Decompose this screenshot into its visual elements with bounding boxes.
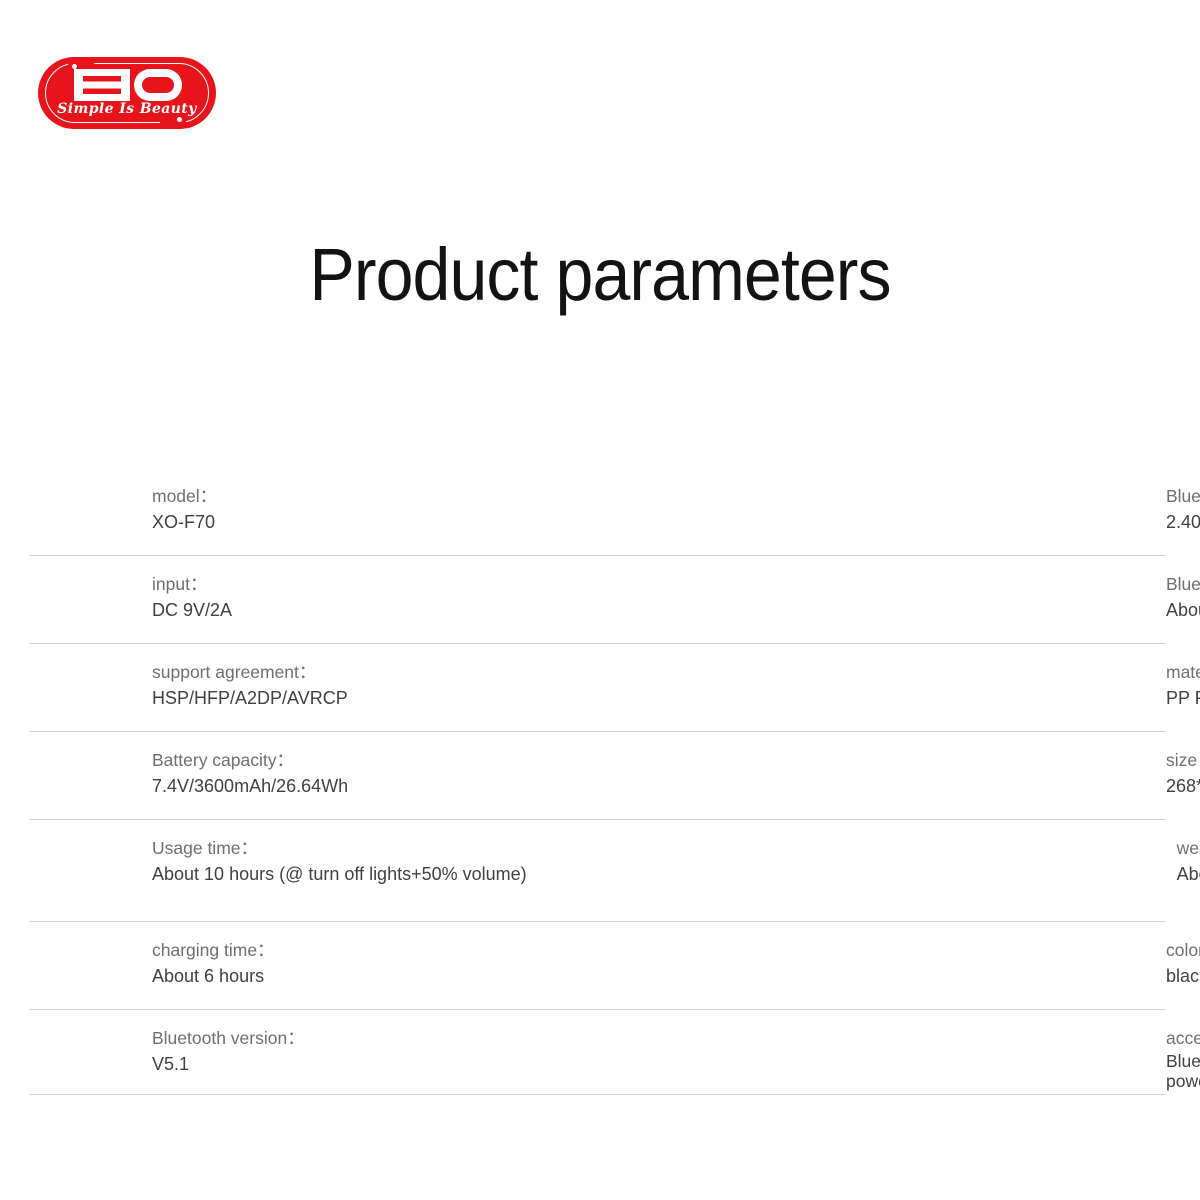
spec-label: charging time： <box>152 938 516 963</box>
table-row: charging time： About 6 hours color： blac… <box>30 922 1166 1010</box>
spec-label: support agreement： <box>152 660 516 685</box>
spec-cell-material: material： PP PLASTIC <box>516 644 1166 731</box>
spec-label: model： <box>152 484 516 509</box>
spec-cell-model: model： XO-F70 <box>30 468 516 555</box>
spec-cell-size: size： 268*298*612mm <box>516 732 1166 819</box>
spec-cell-support-agreement: support agreement： HSP/HFP/A2DP/AVRCP <box>30 644 516 731</box>
spec-cell-battery-capacity: Battery capacity： 7.4V/3600mAh/26.64Wh <box>30 732 516 819</box>
logo-tagline: Simple Is Beauty <box>38 101 216 117</box>
xo-logo: Simple Is Beauty <box>38 57 216 129</box>
logo-dot-bottom-right <box>177 117 182 122</box>
page-title: Product parameters <box>48 232 1152 318</box>
table-row: Battery capacity： 7.4V/3600mAh/26.64Wh s… <box>30 732 1166 820</box>
spec-cell-weight: weight： About5.8Kg <box>527 820 1177 921</box>
table-row: model： XO-F70 Bluetooth frequency： 2.402… <box>30 468 1166 556</box>
table-row: input： DC 9V/2A Bluetooth distance： Abou… <box>30 556 1166 644</box>
spec-label: Bluetooth version： <box>152 1026 516 1051</box>
spec-value: DC 9V/2A <box>152 597 516 624</box>
spec-value: Bluetooth wireless microphone * 1, instr… <box>1166 1051 1200 1091</box>
table-row: Bluetooth version： V5.1 accessories： Blu… <box>30 1010 1166 1095</box>
spec-value: V5.1 <box>152 1051 516 1078</box>
spec-cell-bluetooth-version: Bluetooth version： V5.1 <box>30 1010 516 1094</box>
spec-value: About 6 hours <box>152 963 516 990</box>
spec-cell-bluetooth-frequency: Bluetooth frequency： 2.402GHz-2.480GHz <box>516 468 1166 555</box>
spec-cell-color: color： black <box>516 922 1166 1009</box>
spec-label: Battery capacity： <box>152 748 516 773</box>
table-row: support agreement： HSP/HFP/A2DP/AVRCP ma… <box>30 644 1166 732</box>
spec-cell-usage-time: Usage time： About 10 hours (@ turn off l… <box>30 820 527 921</box>
xo-wordmark-icon <box>72 68 184 102</box>
spec-value: 7.4V/3600mAh/26.64Wh <box>152 773 516 800</box>
spec-cell-bluetooth-distance: Bluetooth distance： About 10 meters <box>516 556 1166 643</box>
spec-cell-charging-time: charging time： About 6 hours <box>30 922 516 1009</box>
table-row: Usage time： About 10 hours (@ turn off l… <box>30 820 1166 922</box>
spec-value: About 10 hours (@ turn off lights+50% vo… <box>152 861 527 888</box>
spec-value: XO-F70 <box>152 509 516 536</box>
spec-label: Usage time： <box>152 836 527 861</box>
spec-cell-accessories: accessories： Bluetooth wireless micropho… <box>516 1010 1166 1094</box>
spec-value: HSP/HFP/A2DP/AVRCP <box>152 685 516 712</box>
spec-label: input： <box>152 572 516 597</box>
spec-table: model： XO-F70 Bluetooth frequency： 2.402… <box>30 468 1166 1095</box>
spec-cell-input: input： DC 9V/2A <box>30 556 516 643</box>
